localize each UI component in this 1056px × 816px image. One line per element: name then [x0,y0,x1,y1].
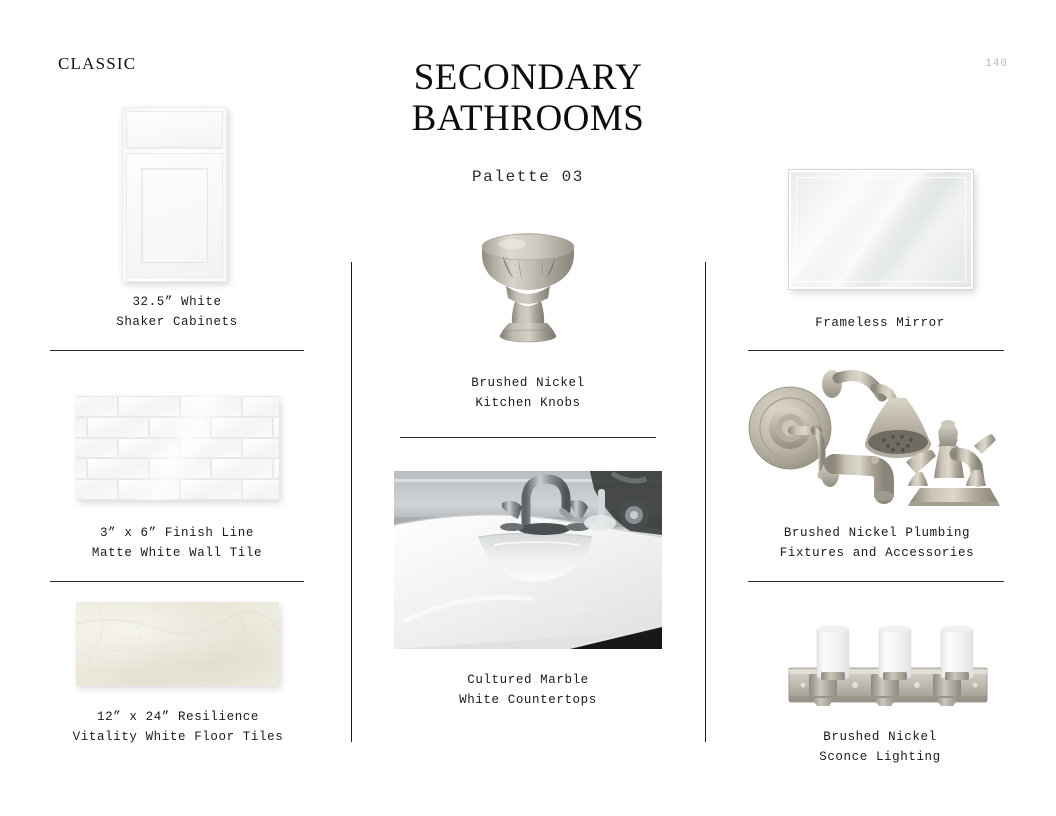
white-shaker-cabinet-door-image [122,107,227,282]
mirror-reflection-sheen [791,172,971,287]
white-subway-wall-tile-image [76,396,279,500]
caption-line-1: Brushed Nickel [760,727,1000,747]
brushed-nickel-shower-tub-faucet-set-image [742,362,1000,510]
palette-board: CLASSIC 140 SECONDARY BATHROOMS Palette … [0,0,1056,816]
caption-line-1: 12” x 24” Resilience [45,707,311,727]
brushed-nickel-mushroom-knob-image [462,228,594,346]
caption-line-2: Shaker Cabinets [52,312,302,332]
right-rule-2 [748,581,1004,582]
caption-line-2: Matte White Wall Tile [52,543,302,563]
frosted-glass-shade [941,628,973,678]
caption-countertops: Cultured Marble White Countertops [408,670,648,710]
frameless-rectangular-mirror-image [789,170,973,289]
tile-row [76,458,279,479]
right-rule-1 [748,350,1004,351]
frosted-glass-shade [879,628,911,678]
caption-floor-tile: 12” x 24” Resilience Vitality White Floo… [45,707,311,747]
caption-line-1: Frameless Mirror [760,313,1000,333]
center-rule-1 [400,437,656,438]
shower-valve-trim [749,387,831,480]
showerhead [822,370,931,458]
caption-sconce-lighting: Brushed Nickel Sconce Lighting [760,727,1000,767]
knob-waist [512,301,544,326]
column-divider-left [351,262,352,742]
caption-line-2: Sconce Lighting [760,747,1000,767]
caption-line-1: Cultured Marble [408,670,648,690]
cultured-marble-vanity-photo-image [394,471,662,649]
cabinet-door-front [126,153,223,278]
column-divider-right [705,262,706,742]
caption-mirror: Frameless Mirror [760,313,1000,333]
frosted-glass-shade [817,628,849,678]
tile-row [76,479,279,500]
caption-line-2: White Countertops [408,690,648,710]
cabinet-recessed-panel [141,168,208,263]
caption-plumbing-fixtures: Brushed Nickel Plumbing Fixtures and Acc… [752,523,1002,563]
caption-line-2: Vitality White Floor Tiles [45,727,311,747]
tub-spout [821,456,894,501]
cabinet-drawer-front [126,111,223,149]
caption-line-1: 32.5” White [52,292,302,312]
page-title-line-1: SECONDARY [0,57,1056,98]
caption-line-2: Kitchen Knobs [408,393,648,413]
left-rule-1 [50,350,304,351]
caption-shaker-cabinets: 32.5” White Shaker Cabinets [52,292,302,332]
tile-row [76,396,279,417]
floor-tile-veining [76,602,279,686]
three-light-vanity-bar-image [783,610,993,710]
caption-line-1: Brushed Nickel [408,373,648,393]
cream-stone-floor-tile-image [76,602,279,686]
tile-row [76,438,279,459]
caption-line-2: Fixtures and Accessories [752,543,1002,563]
caption-line-1: 3” x 6” Finish Line [52,523,302,543]
left-rule-2 [50,581,304,582]
caption-kitchen-knobs: Brushed Nickel Kitchen Knobs [408,373,648,413]
caption-line-1: Brushed Nickel Plumbing [752,523,1002,543]
caption-wall-tile: 3” x 6” Finish Line Matte White Wall Til… [52,523,302,563]
tile-row [76,417,279,438]
